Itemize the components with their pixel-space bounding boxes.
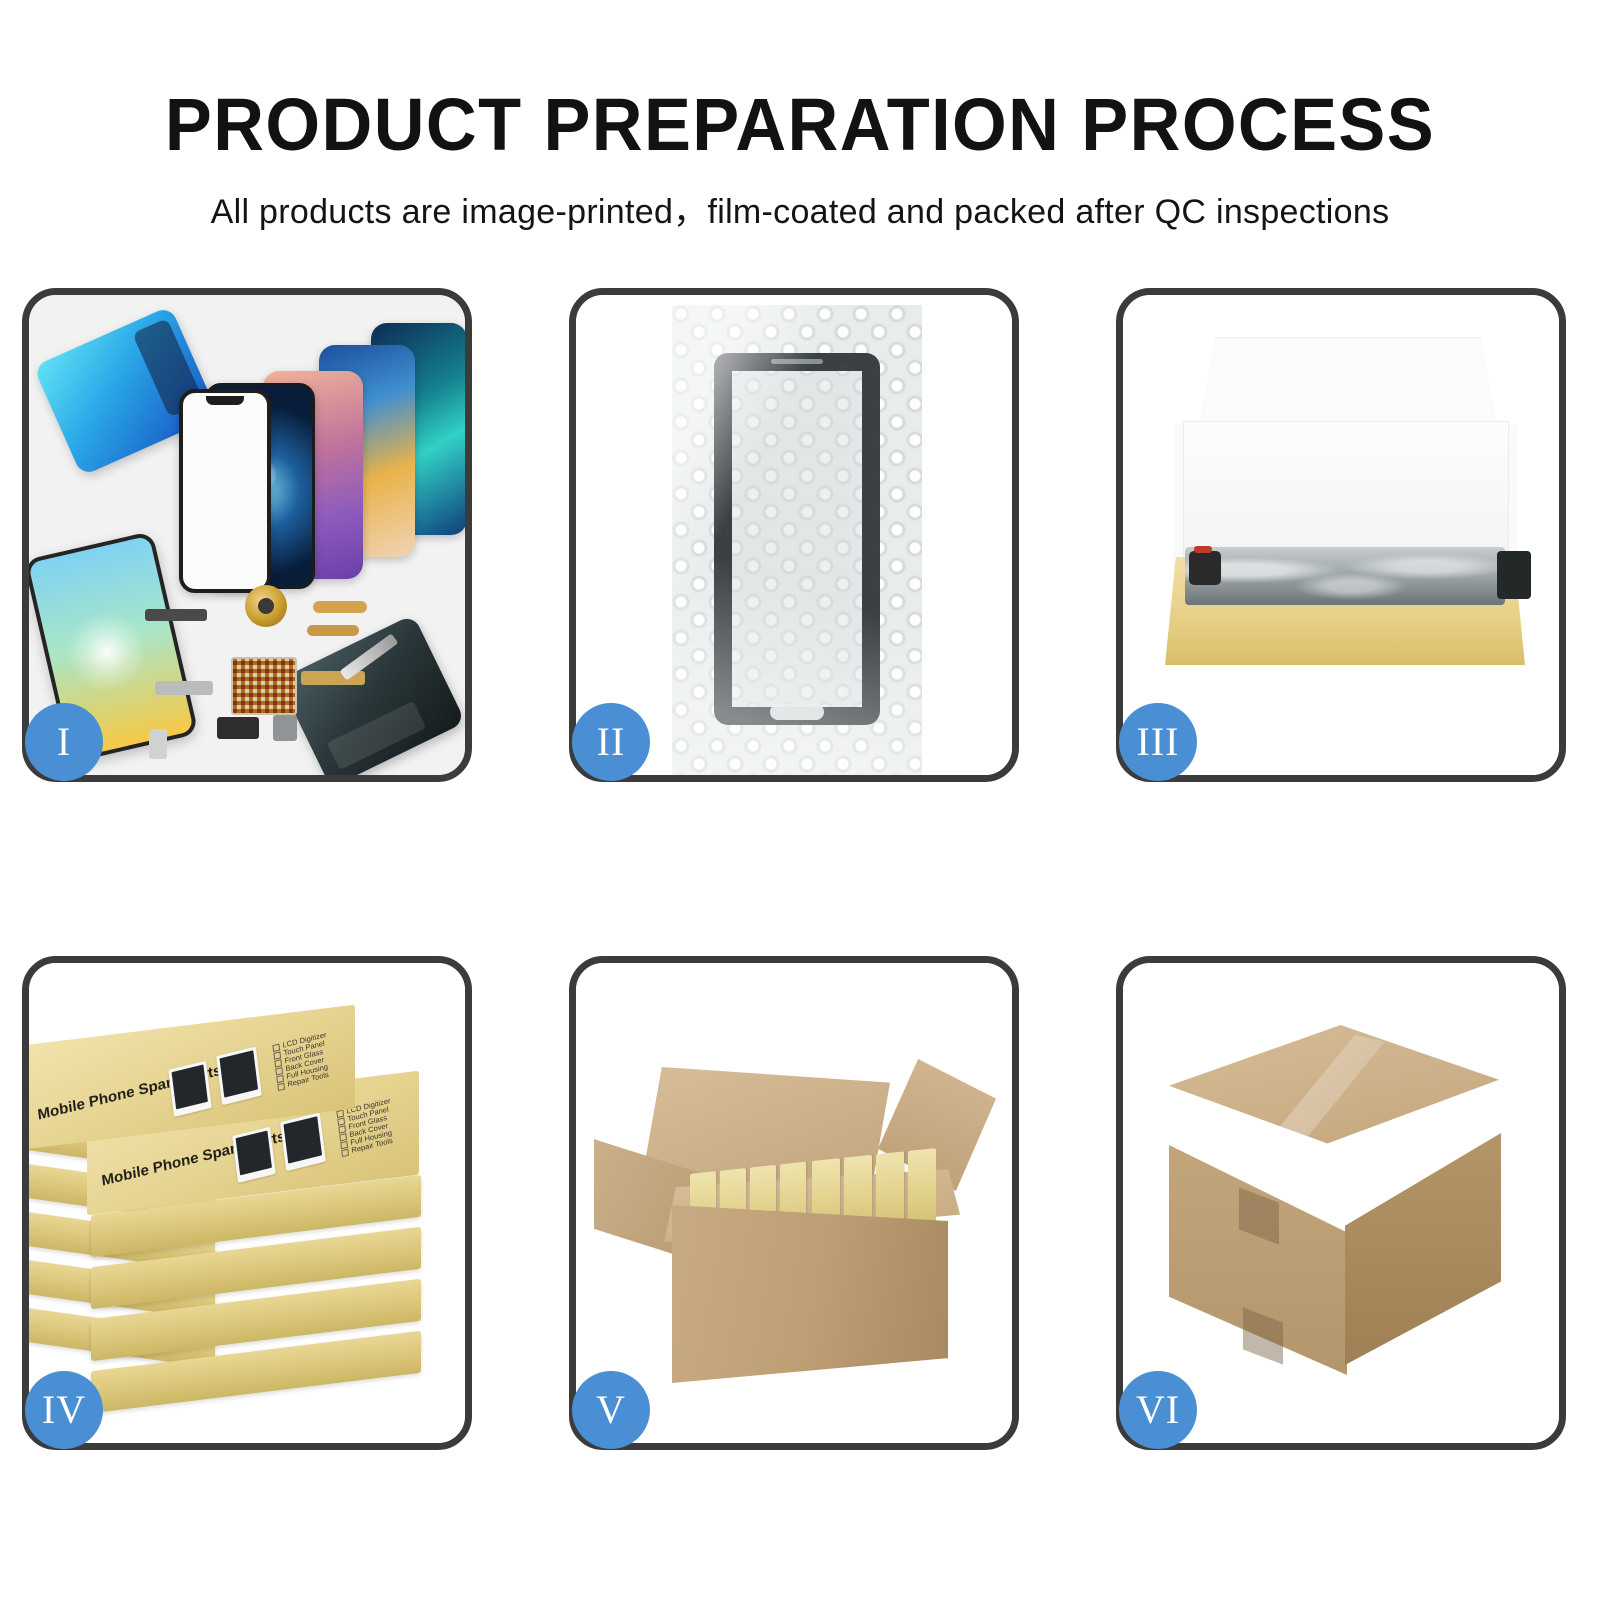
retail-box-stack-scene: Mobile Phone Spare Parts LCD Digitizer T…: [29, 963, 465, 1443]
bubble-wrap-sheet: [672, 305, 922, 775]
bubble-wrap-scene: [576, 295, 1012, 775]
vibration-motor: [273, 715, 297, 741]
step-badge-1: I: [25, 703, 103, 781]
step-badge-5: V: [572, 1371, 650, 1449]
packed-screen-part: [1185, 547, 1505, 605]
process-row-bottom: Mobile Phone Spare Parts LCD Digitizer T…: [0, 956, 1600, 1456]
step-panel-6[interactable]: VI: [1116, 956, 1566, 1450]
step-panel-3[interactable]: III: [1116, 288, 1566, 782]
phone-screen-fan: [177, 323, 465, 593]
step-badge-6: VI: [1119, 1371, 1197, 1449]
step-3-image: [1123, 295, 1559, 775]
step-panel-5[interactable]: V: [569, 956, 1019, 1450]
front-glass-blank: [179, 389, 271, 593]
carton-body: [672, 1205, 948, 1383]
step-panel-2[interactable]: II: [569, 288, 1019, 782]
step-badge-3: III: [1119, 703, 1197, 781]
logic-board-chip: [231, 657, 297, 715]
battery-connector: [217, 717, 259, 739]
screen-flex-tab: [1497, 551, 1531, 599]
step-5-image: [576, 963, 1012, 1443]
repair-tool-tweezers: [340, 633, 399, 680]
small-parts-group: [145, 585, 395, 765]
sealed-carton-side: [1345, 1133, 1501, 1365]
flex-cable-a: [313, 601, 367, 613]
page-title: PRODUCT PREPARATION PROCESS: [40, 88, 1560, 162]
step-4-image: Mobile Phone Spare Parts LCD Digitizer T…: [29, 963, 465, 1443]
film-gloss-overlay: [672, 305, 922, 775]
sim-tray: [149, 729, 167, 759]
speaker-mesh-part: [145, 609, 207, 621]
retail-box-thumb: [280, 1113, 326, 1172]
notch-cutout: [206, 396, 244, 405]
step-6-image: [1123, 963, 1559, 1443]
sealed-carton-scene: [1123, 963, 1559, 1443]
step-panel-4[interactable]: Mobile Phone Spare Parts LCD Digitizer T…: [22, 956, 472, 1450]
step-panel-1[interactable]: I: [22, 288, 472, 782]
step-badge-2: II: [572, 703, 650, 781]
step-1-image: [29, 295, 465, 775]
screen-connector: [1189, 551, 1221, 585]
retail-box-thumb: [232, 1127, 276, 1183]
step-2-image: [576, 295, 1012, 775]
retail-box-thumb: [168, 1061, 212, 1117]
open-carton-scene: [576, 963, 1012, 1443]
wireless-charging-coil: [245, 585, 287, 627]
retail-box-thumb: [216, 1047, 262, 1106]
step-badge-4: IV: [25, 1371, 103, 1449]
mailer-box-scene: [1123, 295, 1559, 775]
process-row-top: I II: [0, 288, 1600, 788]
page-subtitle: All products are image-printed，film-coat…: [0, 184, 1600, 233]
page-header: PRODUCT PREPARATION PROCESS All products…: [0, 0, 1600, 233]
retail-box-checklist: LCD Digitizer Touch Panel Front Glass Ba…: [272, 1031, 332, 1092]
flex-cable-b: [307, 625, 359, 636]
flex-cable-c: [155, 681, 213, 695]
process-step-grid: I II: [0, 288, 1600, 1456]
parts-collage-scene: [29, 295, 465, 775]
